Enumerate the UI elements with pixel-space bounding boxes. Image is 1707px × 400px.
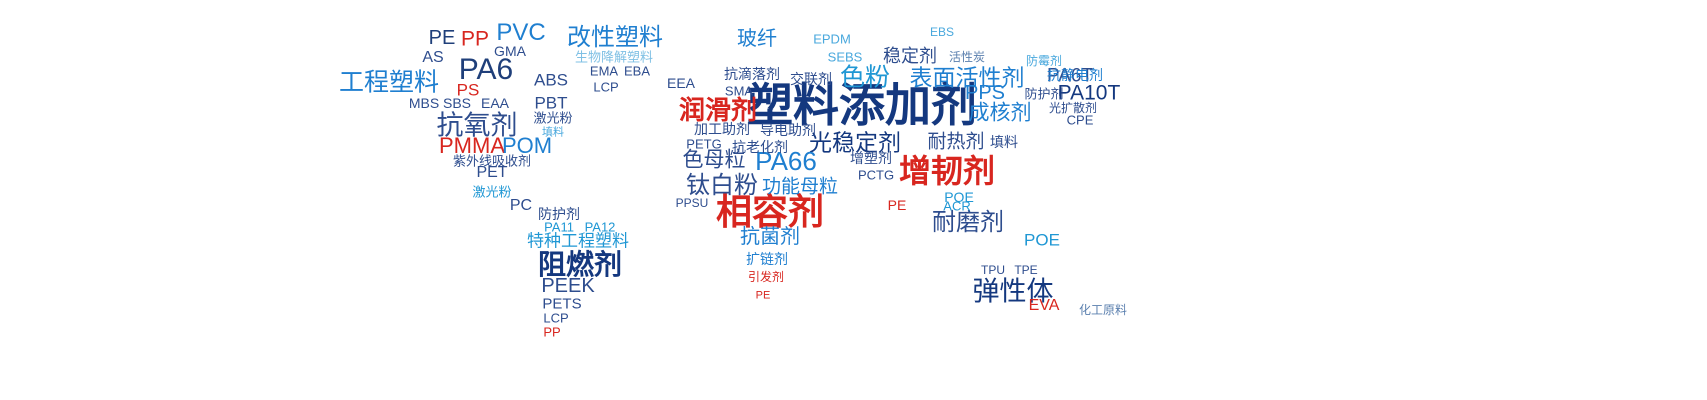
word-special-engineering-plastics[interactable]: 特种工程塑料 <box>527 233 629 250</box>
word-antistatic-agent[interactable]: 抗静电剂 <box>1047 68 1103 82</box>
word-tpe[interactable]: TPE <box>1014 264 1037 276</box>
word-sma[interactable]: SMA <box>725 85 753 98</box>
word-laser-powder-upper[interactable]: 激光粉 <box>533 112 572 125</box>
word-cloud-canvas: 塑料添加剂相容剂增韧剂阻燃剂润滑剂工程塑料抗氧剂改性塑料色粉表面活性剂光稳定剂弹… <box>0 0 1707 400</box>
word-mbs[interactable]: MBS <box>409 96 439 110</box>
word-nucleating-agent[interactable]: 成核剂 <box>969 103 1032 124</box>
word-processing-aid[interactable]: 加工助剂 <box>694 122 750 136</box>
word-initiator[interactable]: 引发剂 <box>748 271 784 283</box>
word-gma[interactable]: GMA <box>494 44 526 58</box>
word-uv-absorber[interactable]: 紫外线吸收剂 <box>453 155 531 168</box>
word-protective-agent-left[interactable]: 防护剂 <box>538 207 580 221</box>
word-lubricant[interactable]: 润滑剂 <box>679 97 757 123</box>
word-eva[interactable]: EVA <box>1029 298 1060 314</box>
word-poe-lower[interactable]: POE <box>1024 232 1060 249</box>
word-laser-powder-lower[interactable]: 激光粉 <box>472 186 511 199</box>
word-titanium-dioxide[interactable]: 钛白粉 <box>686 174 758 198</box>
word-epdm[interactable]: EPDM <box>813 33 851 46</box>
word-as[interactable]: AS <box>422 50 443 66</box>
word-crosslinking-agent[interactable]: 交联剂 <box>790 72 832 86</box>
word-pbt[interactable]: PBT <box>534 95 567 112</box>
word-sbs[interactable]: SBS <box>443 96 471 110</box>
word-modified-plastics[interactable]: 改性塑料 <box>567 26 663 50</box>
word-activated-carbon[interactable]: 活性炭 <box>949 51 985 63</box>
word-light-diffusing-agent[interactable]: 光扩散剂 <box>1049 102 1097 114</box>
word-lcp-bottom[interactable]: LCP <box>543 312 568 325</box>
word-pe-mid[interactable]: PE <box>888 198 907 212</box>
word-color-powder[interactable]: 色粉 <box>840 66 890 91</box>
word-pa12[interactable]: PA12 <box>585 221 616 234</box>
word-glass-fiber[interactable]: 玻纤 <box>737 29 777 49</box>
word-pctg[interactable]: PCTG <box>858 169 894 182</box>
word-functional-masterbatch[interactable]: 功能母粒 <box>762 178 838 197</box>
word-eba[interactable]: EBA <box>624 65 650 78</box>
word-heat-resistant-agent[interactable]: 耐热剂 <box>927 133 984 152</box>
word-pa11[interactable]: PA11 <box>544 221 574 234</box>
word-sebs[interactable]: SEBS <box>828 51 863 64</box>
word-anti-drip-agent[interactable]: 抗滴落剂 <box>724 67 780 81</box>
word-pvc[interactable]: PVC <box>496 21 545 45</box>
word-filler-right[interactable]: 填料 <box>990 135 1018 149</box>
word-chain-extender[interactable]: 扩链剂 <box>746 252 788 266</box>
word-pc[interactable]: PC <box>510 198 532 214</box>
word-ppsu[interactable]: PPSU <box>676 197 709 209</box>
word-pe-top[interactable]: PE <box>429 28 456 48</box>
word-pe-bottom[interactable]: PE <box>756 291 771 302</box>
word-engineering-plastics[interactable]: 工程塑料 <box>339 71 439 96</box>
word-biodegradable-plastics[interactable]: 生物降解塑料 <box>575 51 653 64</box>
word-stabilizer[interactable]: 稳定剂 <box>883 47 937 65</box>
word-plasticizer[interactable]: 增塑剂 <box>850 151 892 165</box>
word-compatibilizer[interactable]: 相容剂 <box>716 194 824 230</box>
word-abs[interactable]: ABS <box>534 72 568 89</box>
word-conductive-aid[interactable]: 导电助剂 <box>760 123 816 137</box>
word-protective-agent-right[interactable]: 防护剂 <box>1024 88 1063 101</box>
word-peek[interactable]: PEEK <box>541 276 594 296</box>
word-pets[interactable]: PETS <box>542 297 581 312</box>
word-mildew-preventive[interactable]: 防霉剂 <box>1026 55 1062 67</box>
word-chemical-raw-materials[interactable]: 化工原料 <box>1079 304 1127 316</box>
word-pp-top[interactable]: PP <box>461 29 489 50</box>
word-eea[interactable]: EEA <box>667 76 695 90</box>
word-ema[interactable]: EMA <box>590 65 618 78</box>
word-petg[interactable]: PETG <box>686 138 721 151</box>
word-pp-bottom[interactable]: PP <box>543 326 560 339</box>
word-acr[interactable]: ACR <box>943 200 970 213</box>
word-toughening-agent[interactable]: 增韧剂 <box>899 155 995 187</box>
word-ebs[interactable]: EBS <box>930 26 954 38</box>
word-anti-aging-agent[interactable]: 抗老化剂 <box>732 140 788 154</box>
word-wear-resistant-agent[interactable]: 耐磨剂 <box>932 211 1004 235</box>
word-pps[interactable]: PPS <box>965 83 1005 103</box>
word-tpu[interactable]: TPU <box>981 264 1005 276</box>
word-antibacterial-agent[interactable]: 抗菌剂 <box>740 227 800 247</box>
word-cpe[interactable]: CPE <box>1067 114 1094 127</box>
word-lcp-top[interactable]: LCP <box>593 81 618 94</box>
word-eaa[interactable]: EAA <box>481 96 509 110</box>
word-filler-left[interactable]: 填料 <box>542 128 564 139</box>
